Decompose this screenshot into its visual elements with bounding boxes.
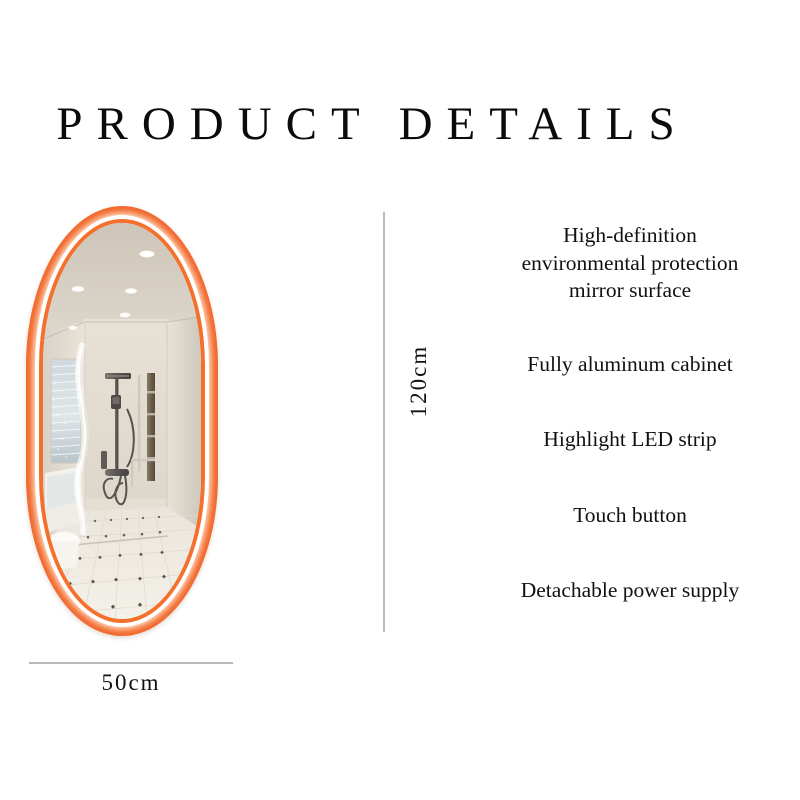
width-dimension-label: 50cm	[29, 670, 233, 696]
bathroom-reflection-illustration	[43, 223, 201, 619]
product-mirror-image	[26, 206, 218, 636]
width-dimension-line	[29, 662, 233, 664]
feature-item: Touch button	[470, 502, 790, 530]
page-title: PRODUCT DETAILS	[0, 97, 745, 151]
height-dimension-line	[383, 212, 385, 632]
mirror-glass-reflection	[43, 223, 201, 619]
feature-list: High-definition environmental protection…	[470, 222, 790, 605]
feature-item: Fully aluminum cabinet	[470, 351, 790, 379]
feature-item: Detachable power supply	[470, 577, 790, 605]
feature-item: High-definition environmental protection…	[470, 222, 790, 305]
product-details-page: PRODUCT DETAILS	[0, 0, 800, 800]
height-dimension-label: 120cm	[406, 326, 432, 436]
feature-item: Highlight LED strip	[470, 426, 790, 454]
